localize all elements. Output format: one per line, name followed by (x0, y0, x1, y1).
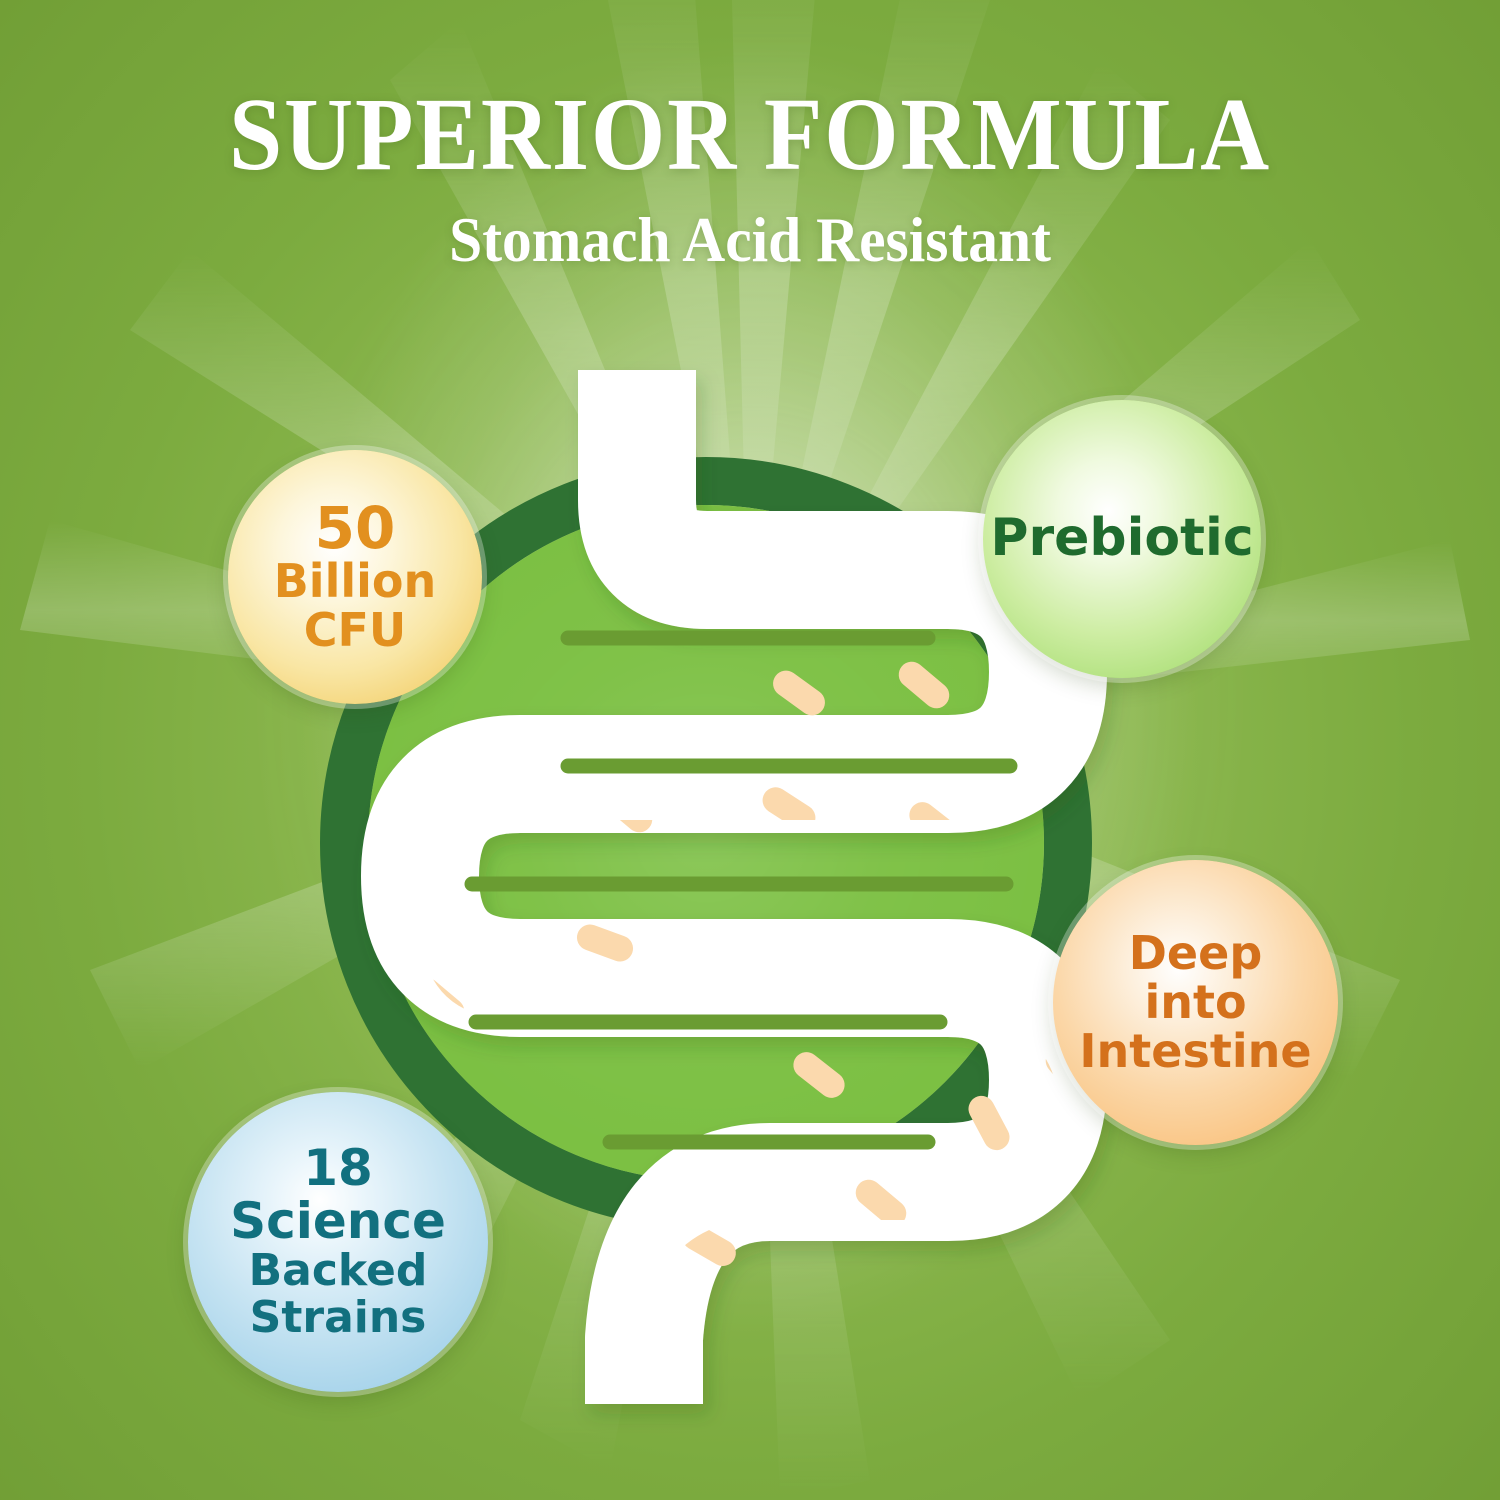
bubble-strains-line-2: Backed (188, 1248, 488, 1295)
bubble-prebiotic-line-1: Prebiotic (990, 511, 1253, 566)
bubble-18-science-backed-strains[interactable]: 18 Science Backed Strains (188, 1092, 488, 1392)
bubble-strains-label: 18 Science Backed Strains (188, 1142, 488, 1341)
bubble-deep-line-2: into (1079, 978, 1311, 1027)
bubble-strains-line-3: Strains (188, 1295, 488, 1342)
bubble-cfu-label: 50 Billion CFU (274, 499, 436, 655)
poster-canvas: SUPERIOR FORMULA Stomach Acid Resistant (0, 0, 1500, 1500)
bubble-cfu-line-2: Billion (274, 557, 436, 606)
bubble-deep-into-intestine[interactable]: Deep into Intestine (1053, 860, 1338, 1145)
bubble-deep-line-1: Deep (1079, 929, 1311, 978)
bubble-cfu-line-3: CFU (274, 606, 436, 655)
bubble-prebiotic-label: Prebiotic (990, 511, 1253, 566)
bubble-deep-line-3: Intestine (1079, 1027, 1311, 1076)
bubble-deep-label: Deep into Intestine (1079, 929, 1311, 1075)
bubble-prebiotic[interactable]: Prebiotic (983, 400, 1261, 678)
bubble-strains-line-1: 18 Science (188, 1142, 488, 1248)
bubble-cfu-line-1: 50 (274, 499, 436, 557)
bubble-50-billion-cfu[interactable]: 50 Billion CFU (228, 450, 482, 704)
